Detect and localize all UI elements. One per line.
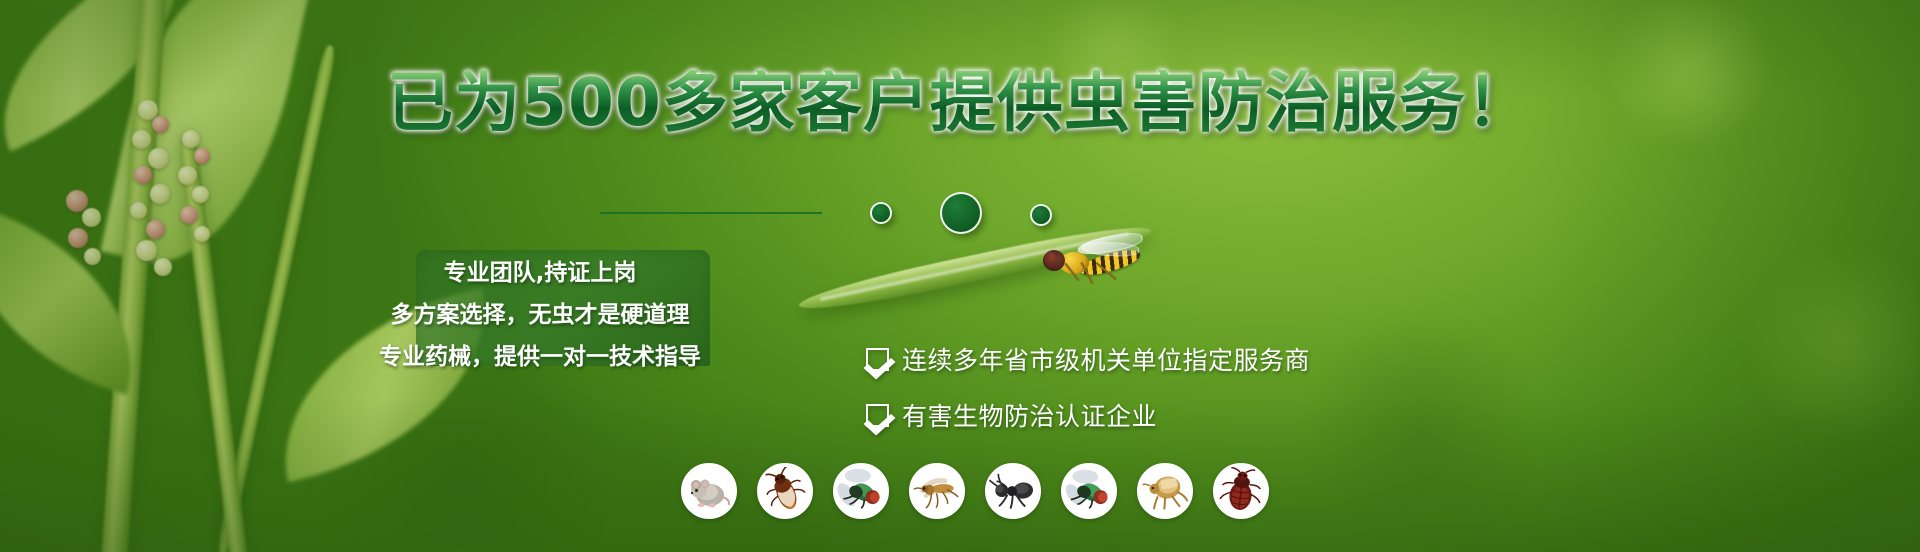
selling-point-2: 多方案选择，无虫才是硬道理 [330, 304, 750, 327]
check-box-icon [866, 404, 889, 427]
list-item: 有害生物防治认证企业 [866, 394, 1310, 436]
credential-label: 连续多年省市级机关单位指定服务商 [902, 341, 1310, 377]
mosquito-icon[interactable]: 蚊 [909, 463, 965, 519]
bedbug-icon[interactable]: 臭虫 [1213, 463, 1269, 519]
flea-icon[interactable]: 跳蚤 [1137, 463, 1193, 519]
decor-dot-large [940, 192, 982, 234]
housefly-icon[interactable]: 家蝇 [1061, 463, 1117, 519]
cockroach-icon[interactable]: 蟑螂 [757, 463, 813, 519]
pest-icon-strip: 鼠 蟑螂 [681, 463, 1269, 519]
list-item: 连续多年省市级机关单位指定服务商 [866, 338, 1310, 380]
selling-point-1: 专业团队,持证上岗 [330, 262, 750, 285]
pest-control-banner: 已为500多家客户提供虫害防治服务！ 专业团队,持证上岗 多方案选择，无虫才是硬… [0, 0, 1920, 552]
selling-points-text: 专业团队,持证上岗 多方案选择，无虫才是硬道理 专业药械，提供一对一技术指导 [330, 262, 750, 369]
selling-point-3: 专业药械，提供一对一技术指导 [330, 346, 750, 369]
divider [600, 212, 822, 214]
blowfly-icon[interactable]: 苍蝇 [833, 463, 889, 519]
credential-label: 有害生物防治认证企业 [902, 397, 1157, 433]
credentials-list: 连续多年省市级机关单位指定服务商 有害生物防治认证企业 [866, 338, 1310, 450]
mouse-icon[interactable]: 鼠 [681, 463, 737, 519]
ant-icon[interactable]: 蚂蚁 [985, 463, 1041, 519]
page-title: 已为500多家客户提供虫害防治服务！ [0, 70, 1920, 136]
decor-dot-small-right [1030, 204, 1052, 226]
check-box-icon [866, 348, 889, 371]
decor-dot-small-left [870, 202, 892, 224]
